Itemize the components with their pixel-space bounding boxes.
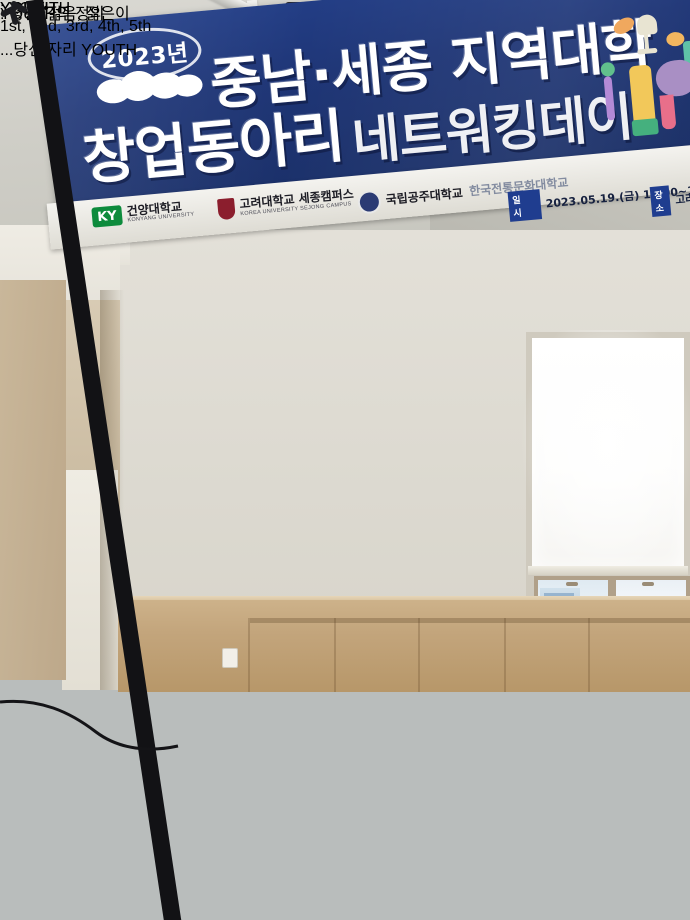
microphone-cable [0, 0, 690, 920]
floor-cable [0, 640, 200, 760]
photo-scene: 2023년 중남·세종 지역대학 창업동아리 네트워킹데이 [0, 0, 690, 920]
